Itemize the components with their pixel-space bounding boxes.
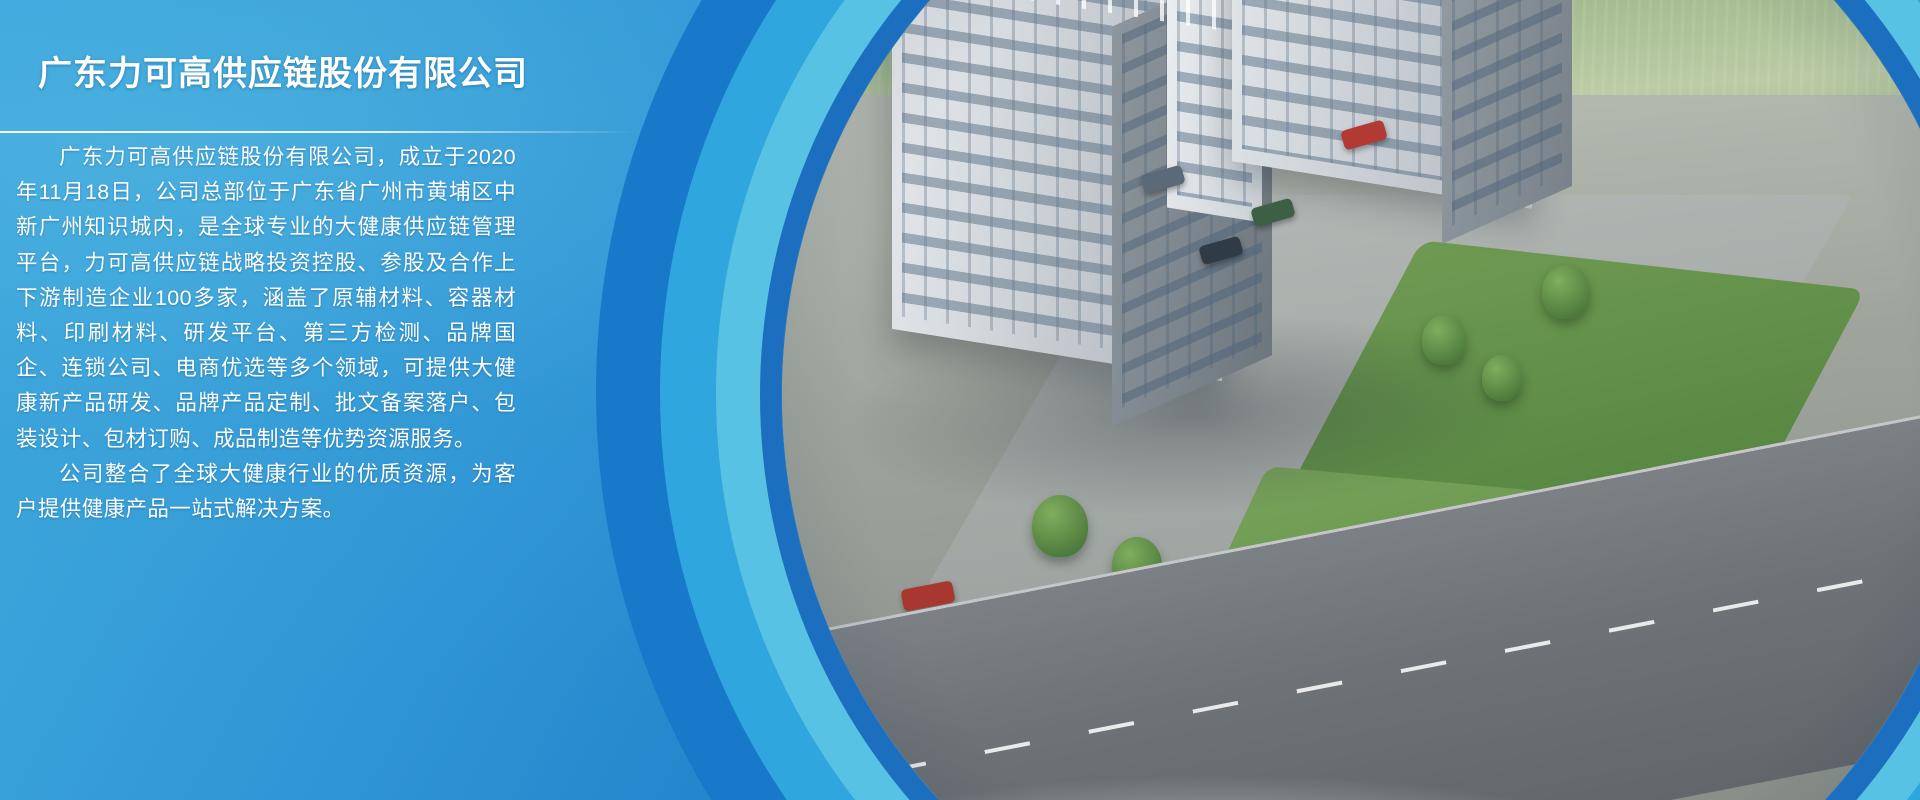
text-panel: 广东力可高供应链股份有限公司 广东力可高供应链股份有限公司，成立于2020年11… — [0, 0, 660, 800]
company-description: 广东力可高供应链股份有限公司，成立于2020年11月18日，公司总部位于广东省广… — [16, 140, 516, 527]
banner-root: 广东力可高供应链股份有限公司 广东力可高供应链股份有限公司，成立于2020年11… — [0, 0, 1920, 800]
title-divider — [0, 131, 635, 133]
paragraph-solution: 公司整合了全球大健康行业的优质资源，为客户提供健康产品一站式解决方案。 — [16, 457, 516, 527]
page-title: 广东力可高供应链股份有限公司 — [38, 53, 528, 96]
photo-canvas — [782, 0, 1920, 800]
aerial-industrial-park-photo — [782, 0, 1920, 800]
photo-vignette — [782, 0, 1920, 800]
paragraph-overview: 广东力可高供应链股份有限公司，成立于2020年11月18日，公司总部位于广东省广… — [16, 140, 516, 457]
